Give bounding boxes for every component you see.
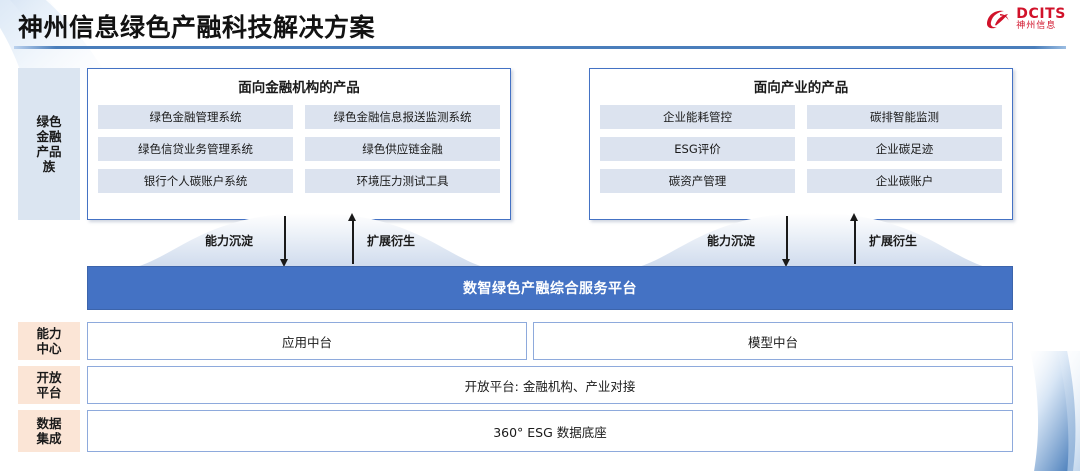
slide-header: 神州信息绿色产融科技解决方案 DCITS 神州信息 bbox=[0, 0, 1080, 52]
layer-open-platform[interactable]: 开放平台: 金融机构、产业对接 bbox=[87, 366, 1013, 404]
panel-title-financial: 面向金融机构的产品 bbox=[98, 76, 500, 96]
flow-arrows-right: 能力沉淀 扩展衍生 bbox=[589, 213, 1013, 271]
flow-label-capability-precipitation: 能力沉淀 bbox=[205, 232, 253, 249]
panel-financial-institution-products: 面向金融机构的产品 绿色金融管理系统 绿色金融信息报送监测系统 绿色信贷业务管理… bbox=[87, 68, 511, 220]
rail-ability-line-2: 中心 bbox=[36, 341, 61, 356]
flow-label-capability-precipitation: 能力沉淀 bbox=[707, 232, 755, 249]
rail-data-line-1: 数据 bbox=[36, 416, 61, 431]
rail-data-line-2: 集成 bbox=[36, 431, 61, 446]
product-item[interactable]: 碳资产管理 bbox=[600, 169, 795, 193]
slide-canvas: 神州信息绿色产融科技解决方案 DCITS 神州信息 绿色 金融 产品 族 能力 … bbox=[0, 0, 1080, 471]
arrow-down-icon bbox=[786, 216, 788, 261]
panel-grid-industry: 企业能耗管控 碳排智能监测 ESG评价 企业碳足迹 碳资产管理 企业碳账户 bbox=[600, 105, 1002, 193]
panel-industry-products: 面向产业的产品 企业能耗管控 碳排智能监测 ESG评价 企业碳足迹 碳资产管理 … bbox=[589, 68, 1013, 220]
product-item[interactable]: 企业碳账户 bbox=[807, 169, 1002, 193]
product-item[interactable]: 碳排智能监测 bbox=[807, 105, 1002, 129]
panel-title-industry: 面向产业的产品 bbox=[600, 76, 1002, 96]
arrow-up-icon bbox=[854, 219, 856, 264]
rail-label-data-integration: 数据 集成 bbox=[18, 410, 80, 452]
title-divider bbox=[14, 46, 1066, 49]
layer-data-base[interactable]: 360° ESG 数据底座 bbox=[87, 410, 1013, 452]
product-item[interactable]: 银行个人碳账户系统 bbox=[98, 169, 293, 193]
arrow-down-icon bbox=[284, 216, 286, 261]
flow-arrows-left: 能力沉淀 扩展衍生 bbox=[87, 213, 511, 271]
flow-label-extension-derivation: 扩展衍生 bbox=[367, 232, 415, 249]
product-item[interactable]: 企业碳足迹 bbox=[807, 137, 1002, 161]
brand-logo: DCITS 神州信息 bbox=[985, 7, 1066, 31]
rail-green-line-2: 金融 bbox=[36, 129, 61, 144]
rail-label-green-finance-family: 绿色 金融 产品 族 bbox=[18, 68, 80, 220]
panel-grid-financial: 绿色金融管理系统 绿色金融信息报送监测系统 绿色信贷业务管理系统 绿色供应链金融… bbox=[98, 105, 500, 193]
product-item[interactable]: 企业能耗管控 bbox=[600, 105, 795, 129]
dcits-swoosh-logo-icon bbox=[985, 8, 1011, 30]
product-item[interactable]: 绿色金融信息报送监测系统 bbox=[305, 105, 500, 129]
product-item[interactable]: 环境压力测试工具 bbox=[305, 169, 500, 193]
product-item[interactable]: 绿色供应链金融 bbox=[305, 137, 500, 161]
product-item[interactable]: ESG评价 bbox=[600, 137, 795, 161]
arrow-up-head-icon bbox=[850, 213, 858, 221]
logo-wordmark: DCITS 神州信息 bbox=[1016, 7, 1066, 31]
logo-text-cn: 神州信息 bbox=[1016, 22, 1066, 31]
rail-ability-line-1: 能力 bbox=[36, 326, 61, 341]
rail-green-line-3: 产品 bbox=[36, 144, 61, 159]
rail-green-line-1: 绿色 bbox=[36, 114, 61, 129]
page-title: 神州信息绿色产融科技解决方案 bbox=[18, 8, 375, 44]
arrow-up-icon bbox=[352, 219, 354, 264]
rail-open-line-1: 开放 bbox=[36, 370, 61, 385]
product-item[interactable]: 绿色金融管理系统 bbox=[98, 105, 293, 129]
arrow-up-head-icon bbox=[348, 213, 356, 221]
rail-open-line-2: 平台 bbox=[36, 385, 61, 400]
rail-label-ability-center: 能力 中心 bbox=[18, 322, 80, 360]
rail-label-open-platform: 开放 平台 bbox=[18, 366, 80, 404]
flow-label-extension-derivation: 扩展衍生 bbox=[869, 232, 917, 249]
platform-bar[interactable]: 数智绿色产融综合服务平台 bbox=[87, 266, 1013, 310]
rail-green-line-4: 族 bbox=[43, 159, 56, 174]
product-item[interactable]: 绿色信贷业务管理系统 bbox=[98, 137, 293, 161]
layer-model-middle-platform[interactable]: 模型中台 bbox=[533, 322, 1013, 360]
layer-app-middle-platform[interactable]: 应用中台 bbox=[87, 322, 527, 360]
logo-text-en: DCITS bbox=[1016, 7, 1066, 21]
